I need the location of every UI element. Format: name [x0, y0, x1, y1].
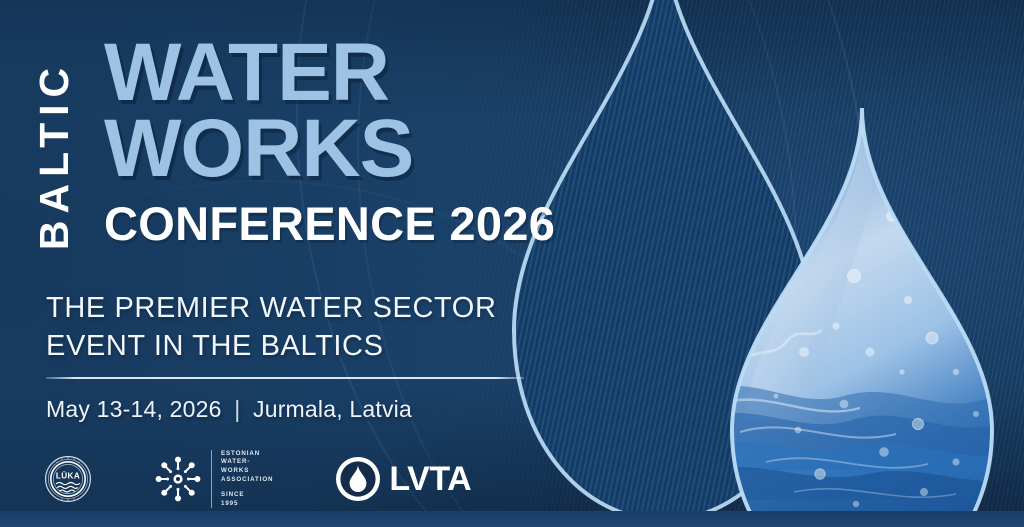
partner-logo-bar: LŪKA [0, 447, 1024, 511]
title-line-water: WATER [104, 36, 574, 110]
vertical-baltic-word: BALTIC [26, 40, 84, 270]
partner-logo-list: LŪKA [0, 450, 471, 509]
vertical-baltic-text: BALTIC [35, 60, 76, 249]
logo-estonian-waterworks-association[interactable]: ESTONIAN WATER- WORKS ASSOCIATION SINCE … [154, 450, 273, 509]
ewa-line-4: ASSOCIATION [221, 476, 273, 485]
ewa-since-year: 1995 [221, 500, 273, 509]
conference-banner: BALTIC WATER WORKS CONFERENCE 2026 THE P… [0, 0, 1024, 527]
lvta-wordmark: LVTA [389, 462, 471, 496]
event-date: May 13-14, 2026 [46, 396, 222, 422]
lvta-droplet-icon [335, 456, 381, 502]
ewa-since-label: SINCE [221, 491, 273, 500]
subtitle-line-2: EVENT IN THE BALTICS [46, 328, 497, 366]
logo-luka[interactable]: LŪKA [44, 455, 92, 503]
ewa-line-2: WATER- [221, 458, 273, 467]
ewa-radial-water-icon [154, 455, 202, 503]
luka-seal-icon: LŪKA [44, 455, 92, 503]
logo-lvta[interactable]: LVTA [335, 456, 471, 502]
logo-bar-bottom-band [0, 511, 1024, 527]
date-location-line: May 13-14, 2026 | Jurmala, Latvia [46, 396, 412, 423]
ewa-line-3: WORKS [221, 467, 273, 476]
subtitle-line-1: THE PREMIER WATER SECTOR [46, 290, 497, 328]
divider-rule [46, 377, 524, 379]
title-line-works: WORKS [104, 112, 574, 186]
event-location: Jurmala, Latvia [253, 396, 412, 422]
title-block: WATER WORKS CONFERENCE 2026 [104, 36, 574, 247]
svg-text:LŪKA: LŪKA [56, 470, 80, 480]
conference-year-line: CONFERENCE 2026 [104, 200, 574, 247]
subtitle: THE PREMIER WATER SECTOR EVENT IN THE BA… [46, 290, 497, 365]
ewa-line-1: ESTONIAN [221, 450, 273, 459]
ewa-wordmark-text: ESTONIAN WATER- WORKS ASSOCIATION SINCE … [211, 450, 273, 509]
date-location-separator: | [234, 396, 240, 422]
